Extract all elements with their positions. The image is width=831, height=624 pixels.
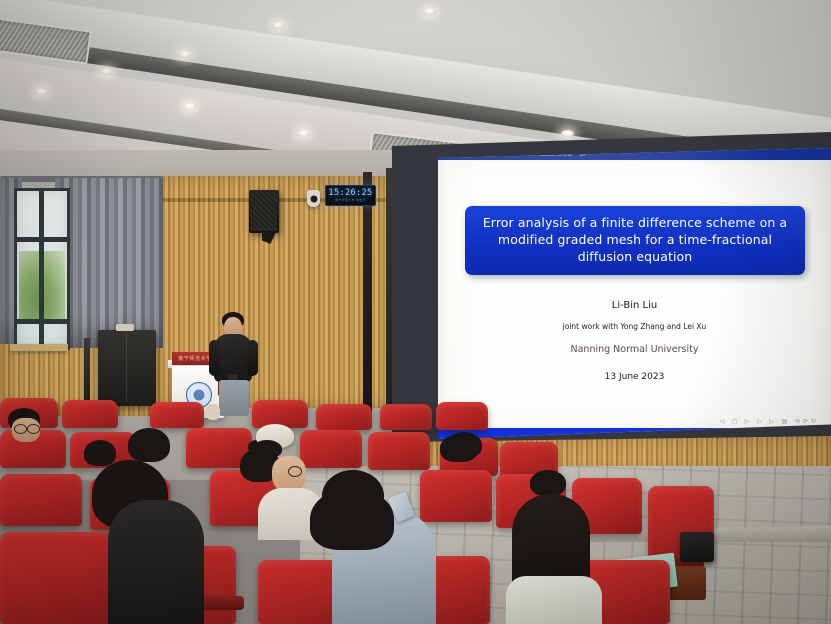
- presenter-legs: [219, 380, 249, 416]
- wall-pillar: [363, 172, 372, 412]
- audience-head: [446, 432, 482, 458]
- seat[interactable]: [150, 402, 204, 428]
- audience-head: [530, 470, 566, 496]
- presentation-slide[interactable]: Introduction Modified graded mesh Discre…: [438, 148, 831, 439]
- led-clock: 15:26:25 南宁师范大学 报告厅: [325, 185, 376, 206]
- seat[interactable]: [300, 430, 362, 468]
- slide-author: Li-Bin Liu: [438, 300, 831, 311]
- presenter-arm-right: [247, 340, 258, 376]
- window-curtain[interactable]: [55, 178, 163, 348]
- clock-sublabel: 南宁师范大学 报告厅: [335, 199, 366, 202]
- lecture-hall-scene: 15:26:25 南宁师范大学 报告厅 Introduction Modifie…: [0, 0, 831, 624]
- beamer-nav-symbols[interactable]: ◁ ◻ ▷ ▷ ▷ ▤ ⟲⟳↻: [720, 418, 819, 425]
- speaker-grille-icon: [251, 192, 277, 231]
- slide-date: 13 June 2023: [438, 372, 831, 382]
- window: [14, 188, 70, 350]
- ceiling-downlight-icon: [35, 88, 48, 95]
- projector-glow: [438, 148, 831, 439]
- ceiling-camera-icon: [307, 190, 320, 207]
- slide-affiliation: Nanning Normal University: [438, 344, 831, 355]
- window-mullion-horizontal: [17, 319, 67, 324]
- window-sill: [10, 344, 68, 351]
- audience-torso: [506, 576, 602, 624]
- seat[interactable]: [62, 400, 118, 428]
- eyeglasses-icon: [288, 466, 302, 477]
- seat[interactable]: [0, 532, 112, 624]
- cabinet-top-item: [116, 324, 134, 331]
- ceiling-downlight-icon: [178, 51, 191, 58]
- slide-collaborators: joint work with Yong Zhang and Lei Xu: [438, 322, 831, 331]
- cabinet-door-seam: [126, 334, 127, 402]
- audience-head: [310, 488, 394, 550]
- ceiling-downlight-icon: [561, 130, 574, 137]
- ceiling-downlight-icon: [183, 103, 196, 110]
- ceiling-downlight-icon: [297, 130, 310, 137]
- audience-head: [84, 440, 116, 466]
- ceiling-downlight-icon: [100, 68, 113, 75]
- seat[interactable]: [436, 402, 488, 430]
- seat[interactable]: [0, 474, 82, 526]
- audience-head: [252, 440, 282, 458]
- ceiling-downlight-icon: [272, 22, 285, 29]
- ceiling-downlight-icon: [423, 8, 436, 15]
- wall-loudspeaker: [249, 190, 279, 233]
- backpack[interactable]: [680, 532, 714, 562]
- equipment-cabinet[interactable]: [98, 330, 156, 406]
- audience-head: [128, 428, 170, 462]
- slide-title-box: Error analysis of a finite difference sc…: [465, 206, 805, 275]
- window-mullion-horizontal: [17, 237, 67, 242]
- clock-time: 15:26:25: [328, 189, 372, 198]
- seat[interactable]: [316, 404, 372, 430]
- presenter-arm-left: [209, 340, 220, 376]
- audience-head: [206, 404, 220, 420]
- eyeglasses-icon: [27, 424, 40, 434]
- seat[interactable]: [380, 404, 432, 430]
- audience-torso: [108, 500, 204, 624]
- seat[interactable]: [420, 470, 492, 522]
- eyeglasses-icon: [14, 424, 27, 434]
- podium-banner-text: 南宁师范大学: [178, 355, 212, 362]
- seat[interactable]: [368, 432, 430, 470]
